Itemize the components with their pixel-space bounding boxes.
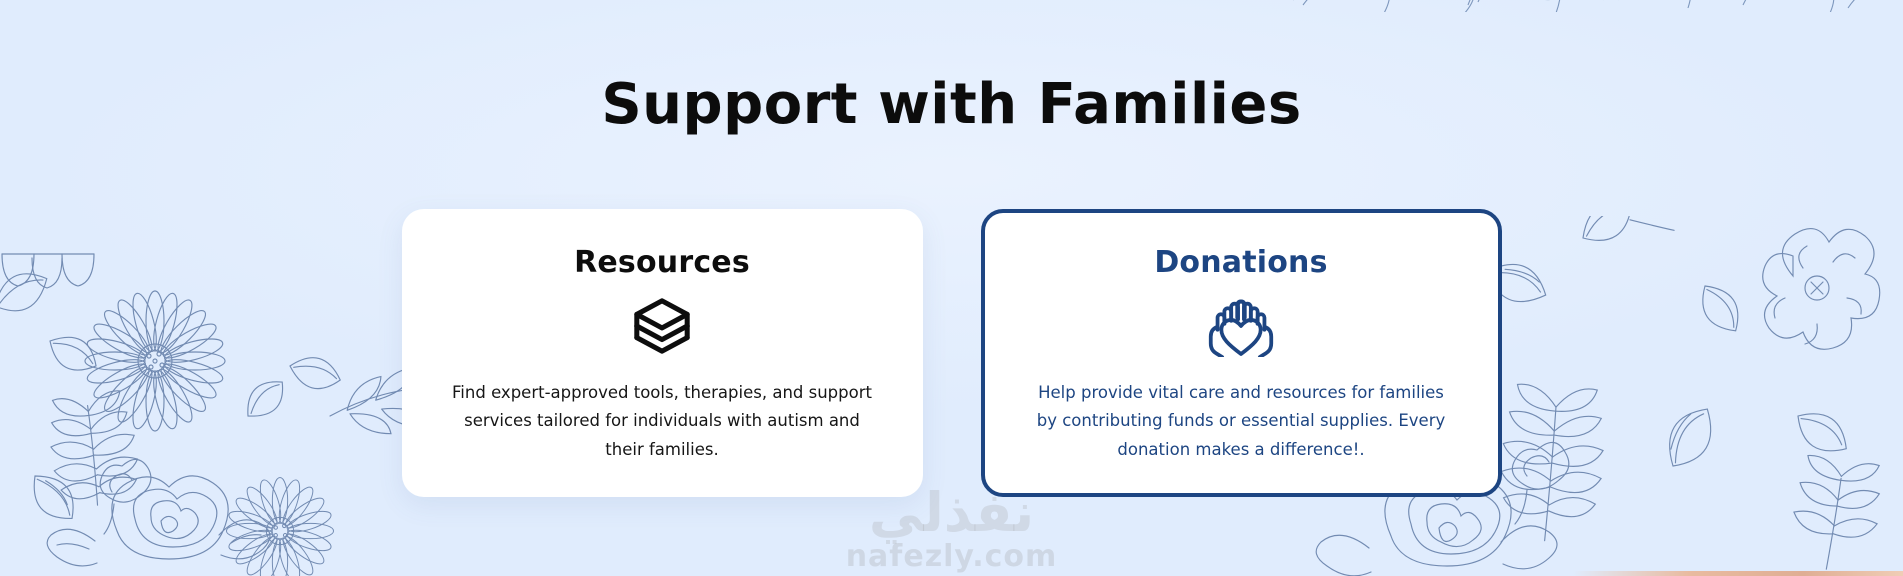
layers-stack-icon [631,295,693,357]
bottom-peach-sliver [1573,571,1903,576]
card-donations[interactable]: Donations [981,209,1502,497]
card-donations-description: Help provide vital care and resources fo… [1031,379,1451,464]
card-resources-description: Find expert-approved tools, therapies, a… [452,379,872,464]
card-resources[interactable]: Resources Find expert-approved tools, th… [402,209,923,497]
watermark-domain-text: nafezly.com [822,542,1082,572]
heart-in-hands-icon [1203,295,1279,357]
card-donations-title: Donations [1154,246,1327,279]
watermark: نفذلي nafezly.com [822,486,1082,572]
card-resources-title: Resources [574,246,750,279]
cards-container: Resources Find expert-approved tools, th… [0,209,1903,497]
page-root: Support with Families Resources Find exp… [0,0,1903,576]
top-decorative-strip [0,0,1903,12]
page-title: Support with Families [0,72,1903,137]
